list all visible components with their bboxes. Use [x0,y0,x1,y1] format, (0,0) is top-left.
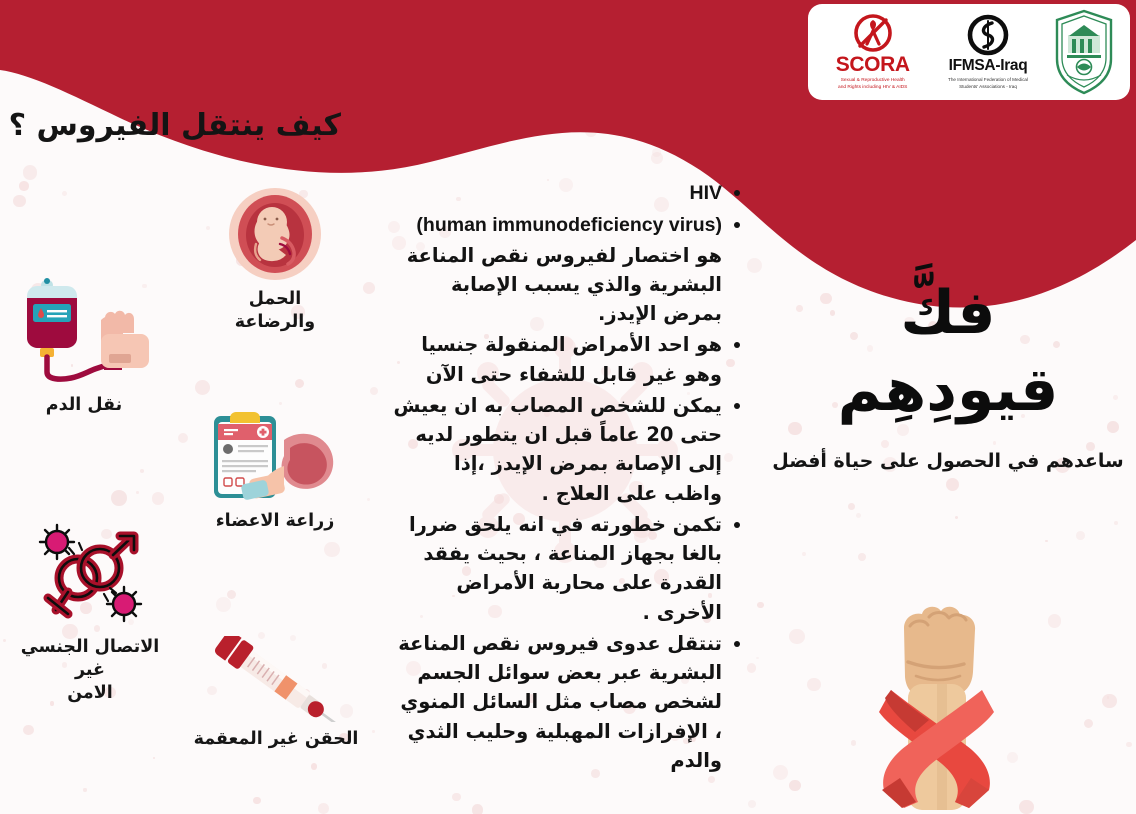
fact-bullet-2: (human immunodeficiency virus) هو اختصار… [392,210,744,328]
university-logo [1053,9,1115,95]
brochure-page: IFMSA-Iraq The International Federation … [0,0,1136,814]
transmission-label-blood: نقل الدم [4,394,164,417]
transmission-label-pregnancy: الحمل والرضاعة [180,288,370,334]
fact-hiv-definition: هو اختصار لفيروس نقص المناعة البشرية وال… [407,244,722,326]
university-crest-icon [1053,9,1115,95]
ifmsa-wordmark: IFMSA-Iraq [949,57,1028,75]
scora-logo: SCORA Sexual & Reproductive Health and R… [823,13,923,92]
pregnancy-breastfeeding-icon [180,186,370,282]
transmission-item-blood: نقل الدم [4,268,164,417]
ifmsa-logo: IFMSA-Iraq The International Federation … [936,14,1040,90]
unsafe-sex-icon [6,518,174,630]
fact-bullet-6: تنتقل عدوى فيروس نقص المناعة البشرية عبر… [392,629,744,775]
campaign-subtitle: ساعدهم في الحصول على حياة أفضل [760,450,1136,472]
blood-transfusion-icon [4,268,164,388]
scora-ribbon-circle-icon [853,13,893,53]
transmission-heading: كيف ينتقل الفيروس ؟ [9,108,341,143]
fact-bullet-5: تكمن خطورته في انه يلحق ضررا بالغا بجهاز… [392,510,744,627]
scora-tagline: Sexual & Reproductive Health and Rights … [838,78,907,92]
fact-bullet-4: يمكن للشخص المصاب به ان يعيش حتى 20 عاما… [392,391,744,508]
transmission-item-pregnancy: الحمل والرضاعة [180,186,370,334]
campaign-title-line1: فكَّ [760,280,1136,347]
fact-hiv-abbr: HIV [689,182,722,204]
fact-hiv-full: (human immunodeficiency virus) [416,214,722,236]
transmission-item-needle: الحقن غير المعقمة [176,636,376,751]
transmission-label-unsafe-sex: الاتصال الجنسي غير الامن [6,636,174,705]
transmission-label-needle: الحقن غير المعقمة [176,728,376,751]
logo-card: IFMSA-Iraq The International Federation … [808,4,1130,100]
transmission-item-unsafe-sex: الاتصال الجنسي غير الامن [6,518,174,705]
raised-fist-ribbon-icon [846,598,1076,814]
ifmsa-snake-staff-icon [967,14,1009,56]
campaign-title-line2: قيودِهِم [760,357,1136,424]
fact-bullet-3: هو احد الأمراض المنقولة جنسيا وهو غير قا… [392,330,744,389]
ifmsa-tagline: The International Federation of Medical … [948,77,1028,90]
organ-transplant-icon [180,404,370,504]
transmission-item-organ: زراعة الاعضاء [180,404,370,533]
facts-list: HIV (human immunodeficiency virus) هو اخ… [392,178,744,777]
transmission-label-organ: زراعة الاعضاء [180,510,370,533]
fact-bullet-1: HIV [392,178,744,208]
scora-wordmark: SCORA [836,53,910,77]
campaign-panel: فكَّ قيودِهِم ساعدهم في الحصول على حياة … [760,280,1136,472]
unsterilized-needle-icon [176,636,376,722]
